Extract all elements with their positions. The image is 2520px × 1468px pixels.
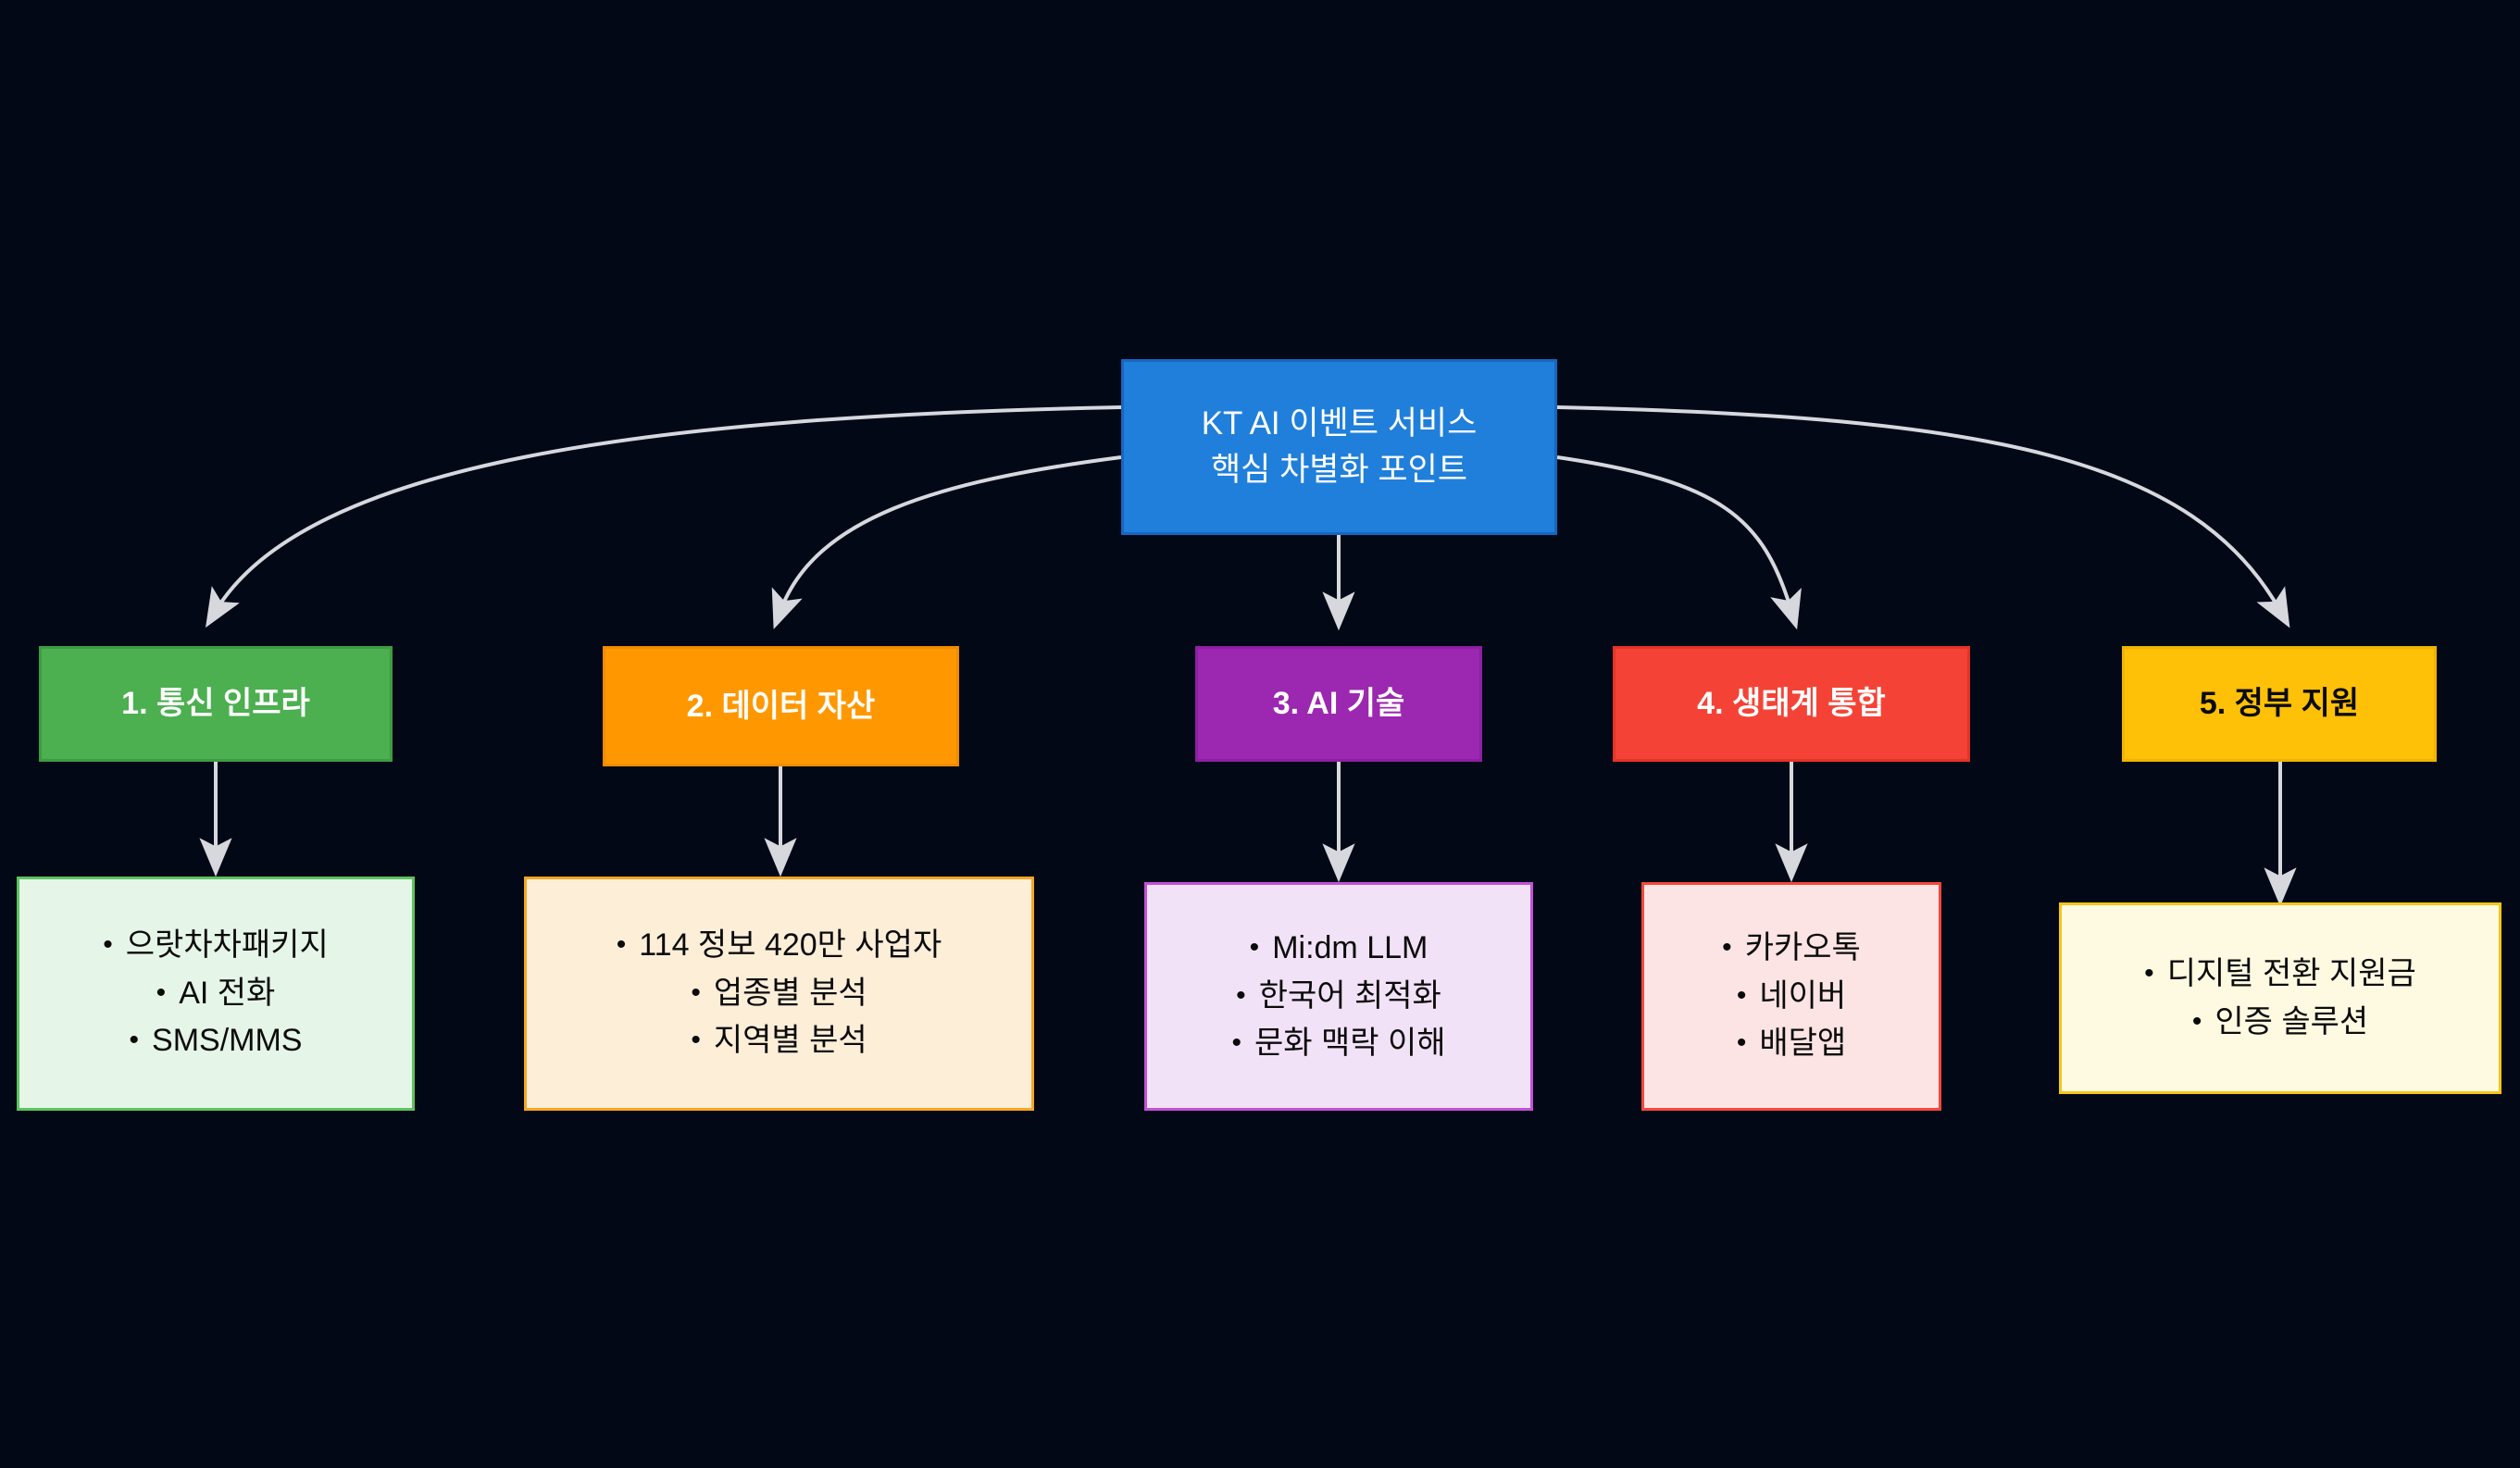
edge-root-to-branch-1 [216,407,1121,611]
category-node-5[interactable]: 5. 정부 지원 [2122,646,2437,762]
detail-item: Mi:dm LLM [1250,925,1428,973]
detail-item: 배달앱 [1737,1020,1846,1068]
detail-item: 문화 맥락 이해 [1231,1020,1445,1068]
category-node-1[interactable]: 1. 통신 인프라 [39,646,393,762]
edge-root-to-branch-5 [1557,407,2280,611]
category-label-2: 2. 데이터 자산 [687,686,876,727]
edge-root-to-branch-4 [1557,457,1791,611]
root-node[interactable]: KT AI 이벤트 서비스 핵심 차별화 포인트 [1121,359,1557,535]
detail-node-5[interactable]: 디지털 전환 지원금 인증 솔루션 [2059,902,2501,1094]
category-node-2[interactable]: 2. 데이터 자산 [603,646,959,766]
detail-node-2[interactable]: 114 정보 420만 사업자 업종별 분석 지역별 분석 [524,877,1034,1111]
detail-item: 카카오톡 [1722,925,1861,973]
diagram-canvas: KT AI 이벤트 서비스 핵심 차별화 포인트 1. 통신 인프라 2. 데이… [0,0,2520,1468]
category-label-3: 3. AI 기술 [1273,683,1405,724]
detail-item: 한국어 최적화 [1236,973,1441,1021]
category-node-3[interactable]: 3. AI 기술 [1195,646,1482,762]
detail-item: 디지털 전환 지원금 [2144,951,2416,999]
detail-node-3[interactable]: Mi:dm LLM 한국어 최적화 문화 맥락 이해 [1144,882,1533,1111]
detail-item: AI 전화 [156,970,276,1018]
detail-item: 인증 솔루션 [2192,999,2368,1047]
detail-item: 으랏차차패키지 [103,922,328,970]
root-title-line-1: KT AI 이벤트 서비스 [1202,401,1478,447]
category-label-4: 4. 생태계 통합 [1697,683,1886,724]
detail-item: 네이버 [1737,973,1846,1021]
detail-item: 114 정보 420만 사업자 [617,922,942,970]
detail-item: 업종별 분석 [691,970,867,1018]
root-title-line-2: 핵심 차별화 포인트 [1211,447,1467,493]
detail-item: 지역별 분석 [691,1017,867,1065]
detail-node-1[interactable]: 으랏차차패키지 AI 전화 SMS/MMS [17,877,415,1111]
category-label-5: 5. 정부 지원 [2200,683,2359,724]
detail-item: SMS/MMS [130,1017,303,1065]
detail-node-4[interactable]: 카카오톡 네이버 배달앱 [1641,882,1941,1111]
category-label-1: 1. 통신 인프라 [121,683,310,724]
edge-root-to-branch-2 [780,457,1121,611]
category-node-4[interactable]: 4. 생태계 통합 [1613,646,1970,762]
